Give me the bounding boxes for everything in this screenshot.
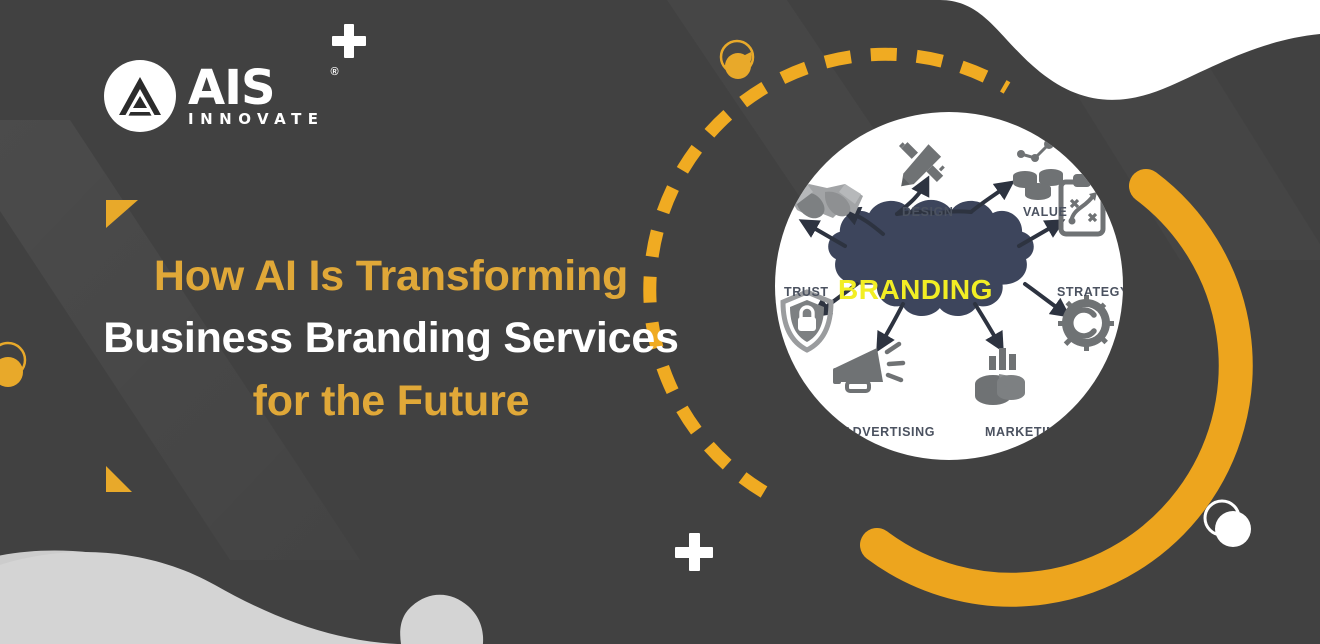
node-label-advertising: ADVERTISING [843,425,935,439]
page-title: How AI Is Transforming Business Branding… [0,245,782,432]
node-label-strategy: STRATEGY [1057,285,1123,299]
node-label-trust: TRUST [784,285,829,299]
headline-line-1: How AI Is Transforming [0,245,782,307]
logo-tagline: INNOVATE [188,111,325,128]
triangle-a-logo-icon [114,70,166,122]
node-label-value: VALUE [1023,205,1067,219]
node-label-design: DESIGN [902,205,954,219]
logo-wordmark: AIS ® INNOVATE [188,64,325,128]
coins-chart-icon [1013,139,1063,200]
branding-infographic: BRANDING DESIGN VALUE STRATEGY LOGO MARK… [775,112,1123,460]
node-label-marketing: MARKETING [985,425,1066,439]
megaphone-icon [833,344,903,391]
center-label: BRANDING [838,274,993,306]
clipboard-plan-icon [1061,174,1103,234]
node-label-identity: IDENTITY [775,407,825,421]
node-label-logo: LOGO [1071,407,1110,421]
pencil-ruler-icon [899,142,945,186]
headline-line-3: for the Future [0,370,782,432]
shield-lock-icon [783,292,831,350]
registered-mark: ® [330,66,338,78]
logo[interactable]: AIS ® INNOVATE [104,60,325,132]
logo-name: AIS [188,66,325,110]
copyright-badge-icon [1058,295,1114,351]
pie-bar-chart-icon [975,348,1025,405]
headline-line-2: Business Branding Services [0,307,782,369]
blog-banner: AIS ® INNOVATE How AI Is Transforming Bu… [0,0,1320,644]
logo-badge [104,60,176,132]
